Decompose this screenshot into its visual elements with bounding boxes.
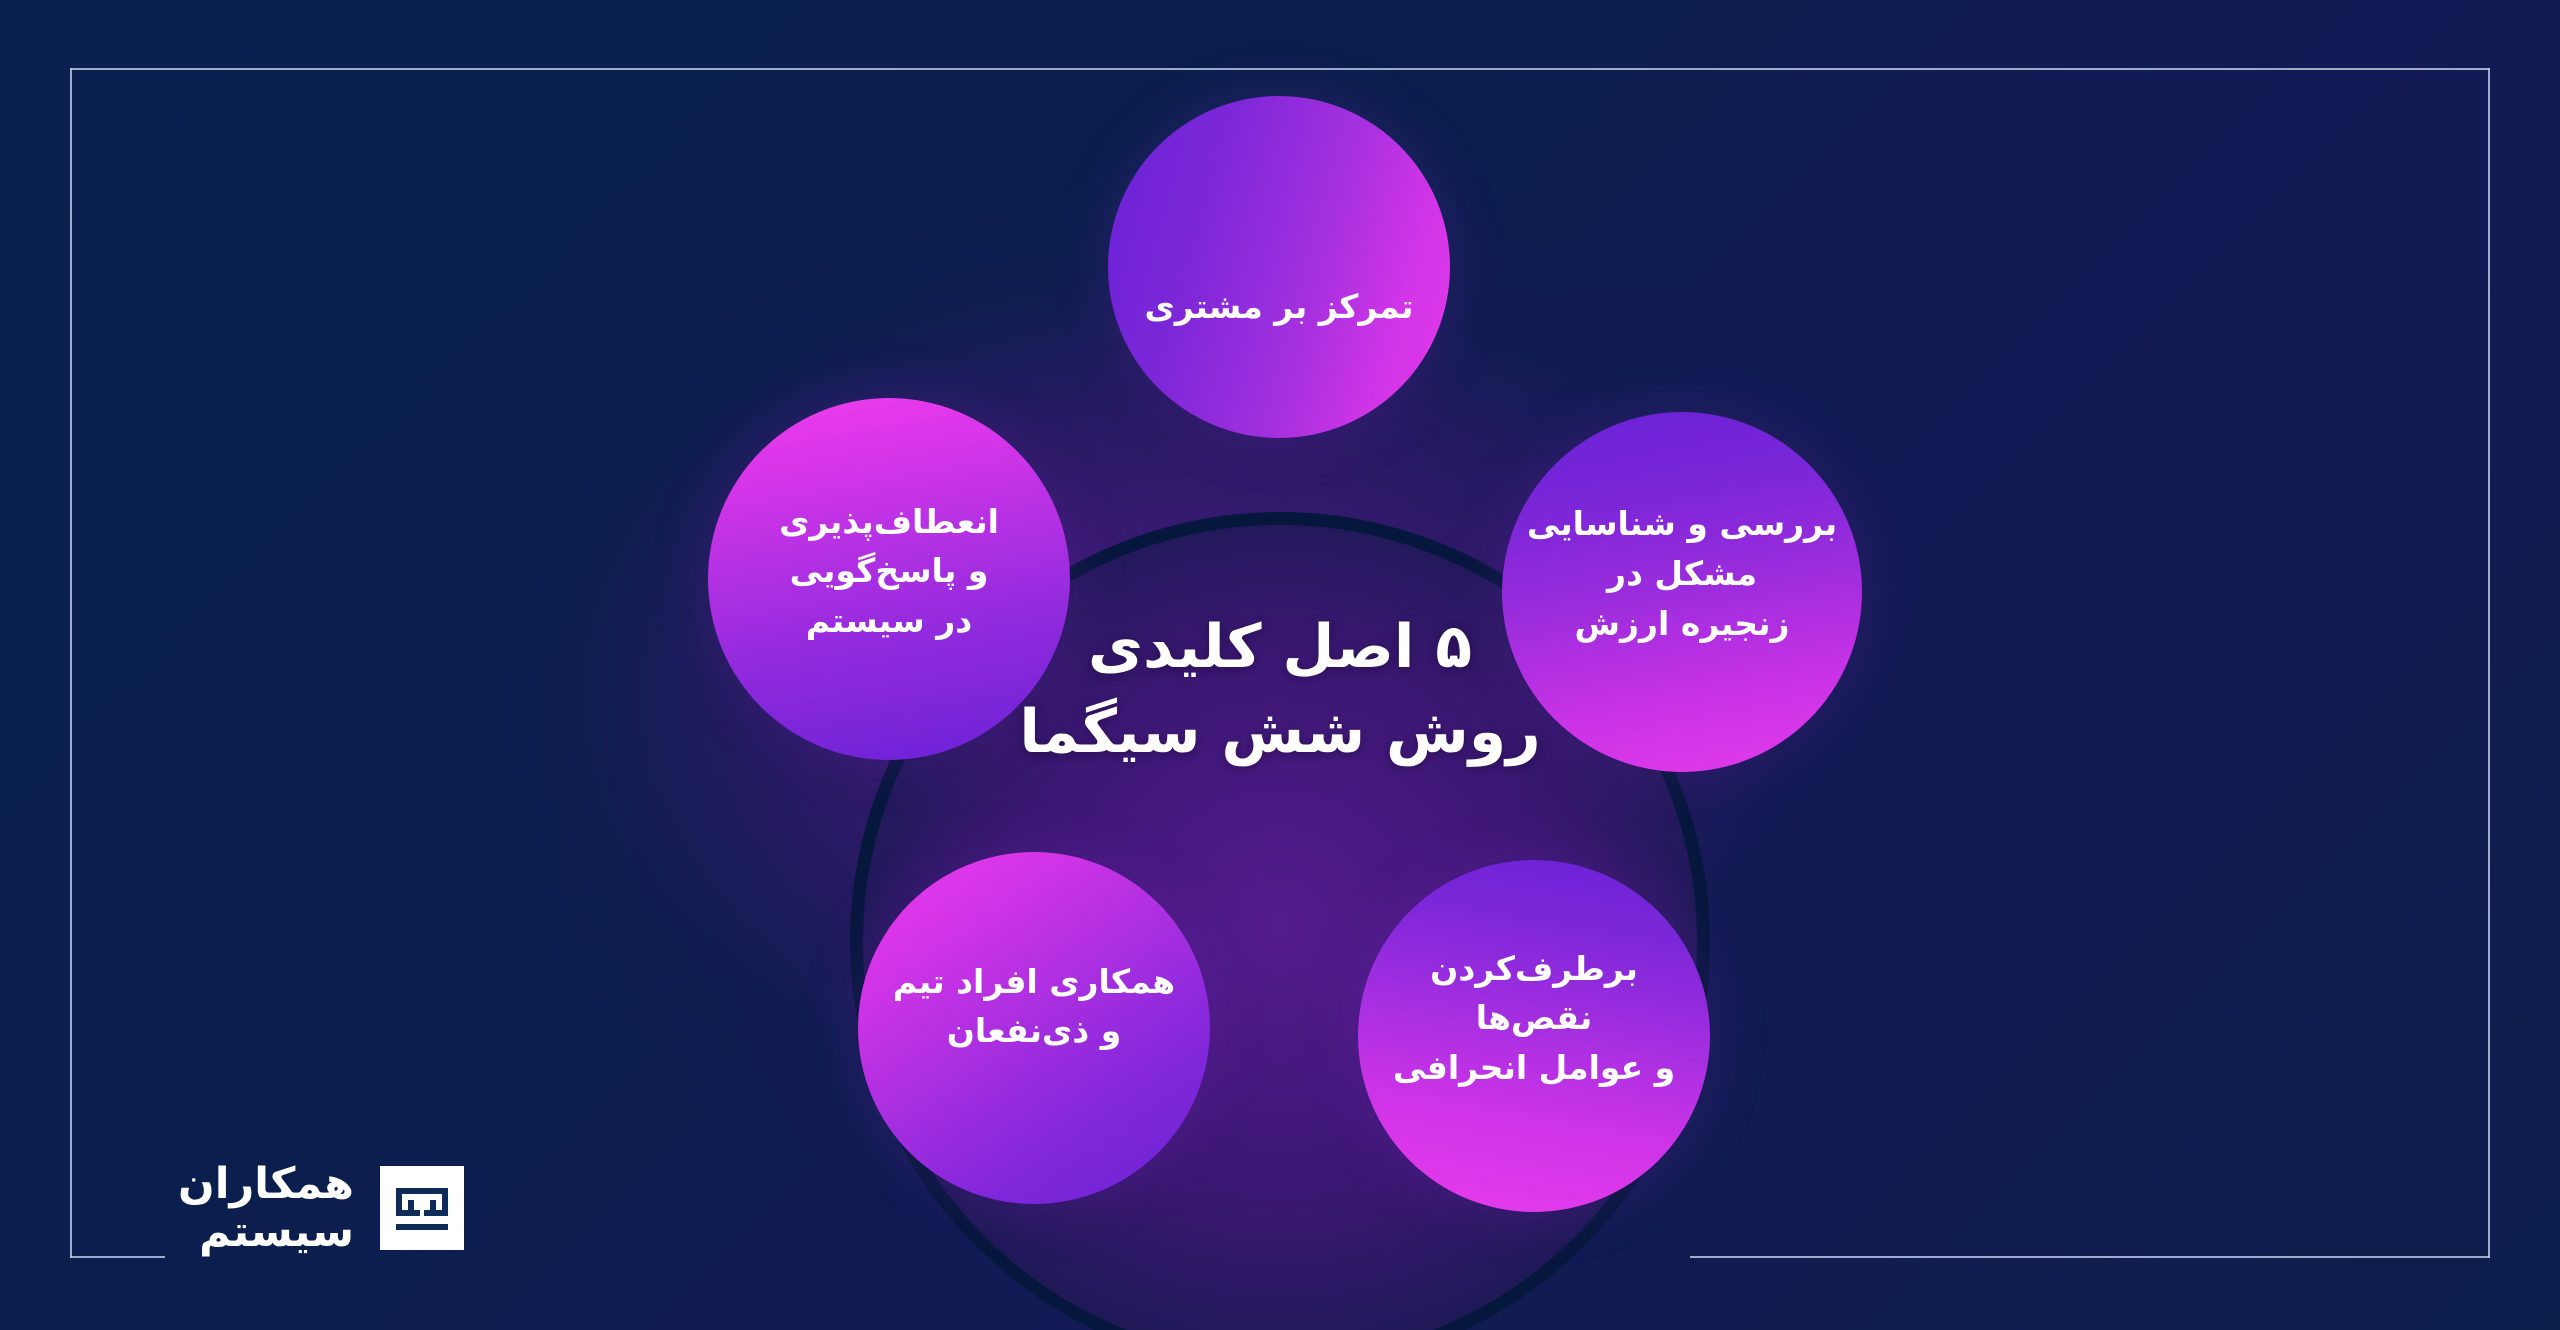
frame-line-right [2488, 68, 2490, 1258]
frame-line-bottom-right [1690, 1256, 2490, 1258]
page-title: ۵ اصل کلیدی روش شش سیگما [930, 605, 1630, 775]
principle-line-2: و عوامل انحرافی [1376, 1043, 1692, 1093]
brand-name-line-2: سیستم [178, 1208, 354, 1256]
infographic-canvas: ۵ اصل کلیدی روش شش سیگما تمرکز بر مشتری … [0, 0, 2560, 1330]
principle-label: تمرکز بر مشتری [1127, 282, 1432, 332]
principle-line-1: همکاری افراد تیم [893, 957, 1175, 1007]
brand-name: همکاران سیستم [178, 1160, 354, 1256]
principle-bubble-remove-defects[interactable]: برطرف‌کردن نقص‌ها و عوامل انحرافی [1358, 860, 1710, 1212]
principle-label: همکاری افراد تیم و ذی‌نفعان [875, 957, 1193, 1056]
principle-line-1: بررسی و شناسایی [1527, 499, 1837, 549]
principle-line-2: مشکل در [1527, 549, 1837, 599]
principle-line-1: برطرف‌کردن نقص‌ها [1376, 944, 1692, 1043]
principle-label: برطرف‌کردن نقص‌ها و عوامل انحرافی [1358, 944, 1710, 1093]
frame-line-bottom-left-stub [70, 1256, 165, 1258]
principle-line-1: انعطاف‌پذیری [779, 497, 999, 547]
brand-lockup: همکاران سیستم [178, 1160, 464, 1256]
principle-bubble-team-stakeholder-collaboration[interactable]: همکاری افراد تیم و ذی‌نفعان [858, 852, 1210, 1204]
principle-line-2: و پاسخ‌گویی [779, 546, 999, 596]
page-title-line-2: روش شش سیگما [930, 690, 1630, 775]
hamkaran-system-logo-icon [380, 1166, 464, 1250]
brand-name-line-1: همکاران [178, 1160, 354, 1208]
principle-bubble-customer-focus[interactable]: تمرکز بر مشتری [1108, 96, 1450, 438]
page-title-line-1: ۵ اصل کلیدی [930, 605, 1630, 690]
principle-line-1: تمرکز بر مشتری [1145, 282, 1414, 332]
frame-line-top [70, 68, 2490, 70]
frame-line-left [70, 68, 72, 1258]
principle-line-2: و ذی‌نفعان [893, 1006, 1175, 1056]
